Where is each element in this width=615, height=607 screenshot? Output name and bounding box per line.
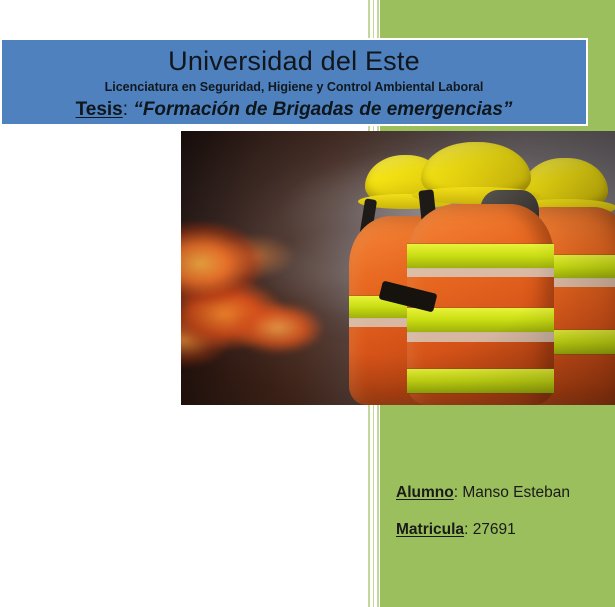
thesis-separator: : <box>123 99 134 120</box>
thesis-title: “Formación de Brigadas de emergencias” <box>133 99 512 120</box>
matricula-label: Matricula <box>396 521 464 538</box>
thesis-title-line: Tesis: “Formación de Brigadas de emergen… <box>2 97 586 123</box>
photo-vignette <box>181 131 615 405</box>
thesis-label: Tesis <box>76 99 123 120</box>
author-block: Alumno: Manso Esteban Matricula: 27691 <box>396 482 606 556</box>
student-name: Manso Esteban <box>462 484 570 501</box>
matricula-line: Matricula: 27691 <box>396 519 606 540</box>
program-name: Licenciatura en Seguridad, Higiene y Con… <box>2 78 586 96</box>
matricula-separator: : <box>464 521 473 538</box>
matricula-number: 27691 <box>473 521 516 538</box>
title-banner: Universidad del Este Licenciatura en Seg… <box>0 38 588 126</box>
thesis-cover-page: Universidad del Este Licenciatura en Seg… <box>0 0 615 607</box>
student-line: Alumno: Manso Esteban <box>396 482 606 503</box>
university-name: Universidad del Este <box>2 40 586 78</box>
firefighters-photo <box>181 131 615 405</box>
student-label: Alumno <box>396 484 454 501</box>
